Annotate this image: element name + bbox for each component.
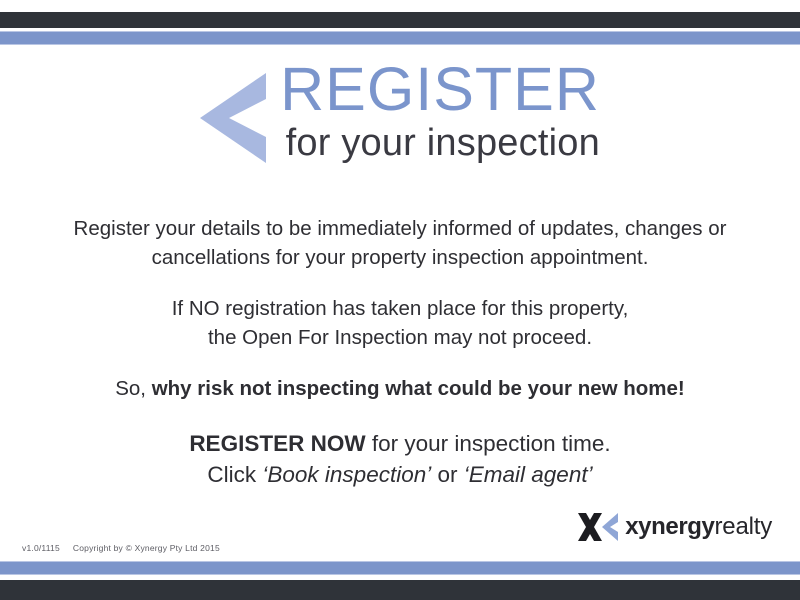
- register-inspection-poster: REGISTER for your inspection Register yo…: [0, 0, 800, 600]
- paragraph-intro: Register your details to be immediately …: [0, 214, 800, 272]
- paragraph-line: If NO registration has taken place for t…: [172, 297, 629, 320]
- page-subtitle: for your inspection: [280, 124, 600, 164]
- xynergy-x-chevron-logo-icon: [578, 512, 618, 542]
- cta-register-now-rest: for your inspection time.: [366, 431, 611, 456]
- cta-click-prefix: Click: [207, 462, 262, 487]
- cta-click-middle: or: [431, 462, 464, 487]
- call-to-action: REGISTER NOW for your inspection time. C…: [0, 428, 800, 490]
- cta-line-register-now: REGISTER NOW for your inspection time.: [0, 428, 800, 459]
- cta-register-now-emphasis: REGISTER NOW: [189, 431, 365, 456]
- paragraph-line: cancellations for your property inspecti…: [152, 246, 649, 269]
- paragraph-emphasis: why risk not inspecting what could be yo…: [152, 377, 685, 400]
- footer: v1.0/1115 Copyright by © Xynergy Pty Ltd…: [22, 543, 220, 553]
- title-block: REGISTER for your inspection: [0, 60, 800, 175]
- brand-word-secondary: realty: [715, 513, 773, 540]
- bottom-dark-band: [0, 580, 800, 600]
- cta-email-agent-label: ‘Email agent’: [464, 462, 593, 487]
- top-dark-band: [0, 12, 800, 28]
- chevron-left-icon: [200, 73, 266, 163]
- page-title: REGISTER: [280, 60, 600, 119]
- paragraph-line: the Open For Inspection may not proceed.: [208, 326, 592, 349]
- paragraph-line: Register your details to be immediately …: [74, 217, 727, 240]
- brand-wordmark: xynergyrealty: [625, 515, 772, 539]
- brand-word-primary: xynergy: [625, 513, 714, 540]
- cta-book-inspection-label: ‘Book inspection’: [262, 462, 431, 487]
- bottom-blue-band: [0, 561, 800, 575]
- top-blue-band: [0, 31, 800, 45]
- version-label: v1.0/1115: [22, 543, 60, 553]
- body-copy: Register your details to be immediately …: [0, 214, 800, 404]
- brand-logo: xynergyrealty: [578, 512, 772, 542]
- paragraph-warning: If NO registration has taken place for t…: [0, 294, 800, 352]
- copyright-label: Copyright by © Xynergy Pty Ltd 2015: [73, 543, 220, 553]
- cta-line-click-options: Click ‘Book inspection’ or ‘Email agent’: [0, 459, 800, 490]
- paragraph-prefix: So,: [115, 377, 151, 400]
- paragraph-prompt: So, why risk not inspecting what could b…: [0, 374, 800, 403]
